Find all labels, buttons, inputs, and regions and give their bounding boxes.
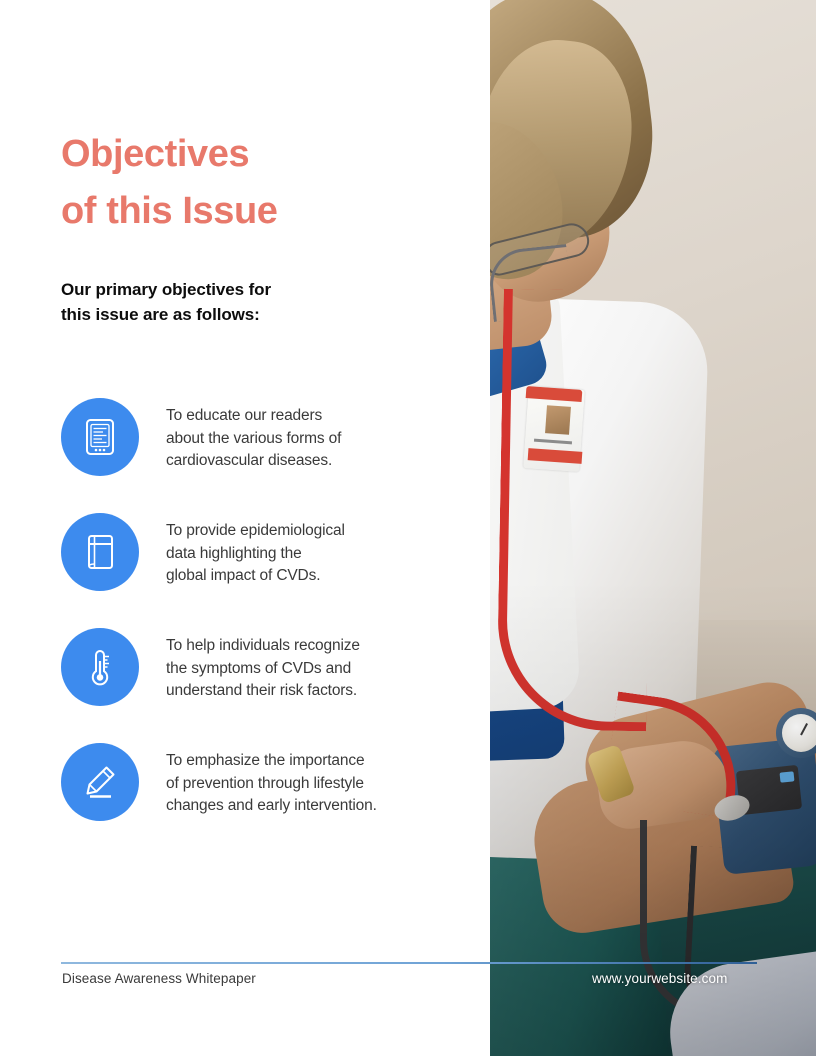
objective-1-line-1: To educate our readers — [166, 405, 341, 428]
objective-text-2: To provide epidemiological data highligh… — [166, 513, 345, 588]
book-icon — [61, 513, 139, 591]
subtitle: Our primary objectives for this issue ar… — [61, 277, 391, 327]
objective-3-line-1: To help individuals recognize — [166, 635, 360, 658]
objective-2-line-1: To provide epidemiological — [166, 520, 345, 543]
page-title-line-2: of this Issue — [61, 183, 461, 240]
objective-1-line-2: about the various forms of — [166, 428, 341, 451]
objective-2-line-3: global impact of CVDs. — [166, 565, 345, 588]
tablet-document-icon — [61, 398, 139, 476]
objective-4-line-1: To emphasize the importance — [166, 750, 377, 773]
objective-1-line-3: cardiovascular diseases. — [166, 450, 341, 473]
objective-item-4: To emphasize the importance of preventio… — [61, 743, 481, 821]
page-title: Objectives of this Issue — [61, 126, 461, 240]
objective-text-1: To educate our readers about the various… — [166, 398, 341, 473]
objective-item-3: To help individuals recognize the sympto… — [61, 628, 481, 706]
objective-3-line-2: the symptoms of CVDs and — [166, 658, 360, 681]
photo-stethoscope-tube — [496, 289, 654, 732]
objective-3-line-3: understand their risk factors. — [166, 680, 360, 703]
objective-2-line-2: data highlighting the — [166, 543, 345, 566]
footer-divider — [61, 962, 757, 964]
objectives-list: To educate our readers about the various… — [61, 398, 481, 821]
objective-item-1: To educate our readers about the various… — [61, 398, 481, 476]
objective-text-3: To help individuals recognize the sympto… — [166, 628, 360, 703]
clinical-photo — [490, 0, 816, 1056]
subtitle-line-2: this issue are as follows: — [61, 302, 391, 327]
footer-document-label: Disease Awareness Whitepaper — [62, 971, 256, 986]
objective-4-line-2: of prevention through lifestyle — [166, 773, 377, 796]
subtitle-line-1: Our primary objectives for — [61, 277, 391, 302]
photo-bp-cuff-indicator — [780, 771, 795, 782]
content-column: Objectives of this Issue Our primary obj… — [0, 0, 490, 1056]
objective-item-2: To provide epidemiological data highligh… — [61, 513, 481, 591]
pencil-icon — [61, 743, 139, 821]
whitepaper-page: Objectives of this Issue Our primary obj… — [0, 0, 816, 1056]
footer-website-url[interactable]: www.yourwebsite.com — [592, 971, 727, 986]
objective-4-line-3: changes and early intervention. — [166, 795, 377, 818]
photo-bp-gauge-dial — [782, 714, 816, 752]
objective-text-4: To emphasize the importance of preventio… — [166, 743, 377, 818]
thermometer-icon — [61, 628, 139, 706]
page-title-line-1: Objectives — [61, 126, 461, 183]
